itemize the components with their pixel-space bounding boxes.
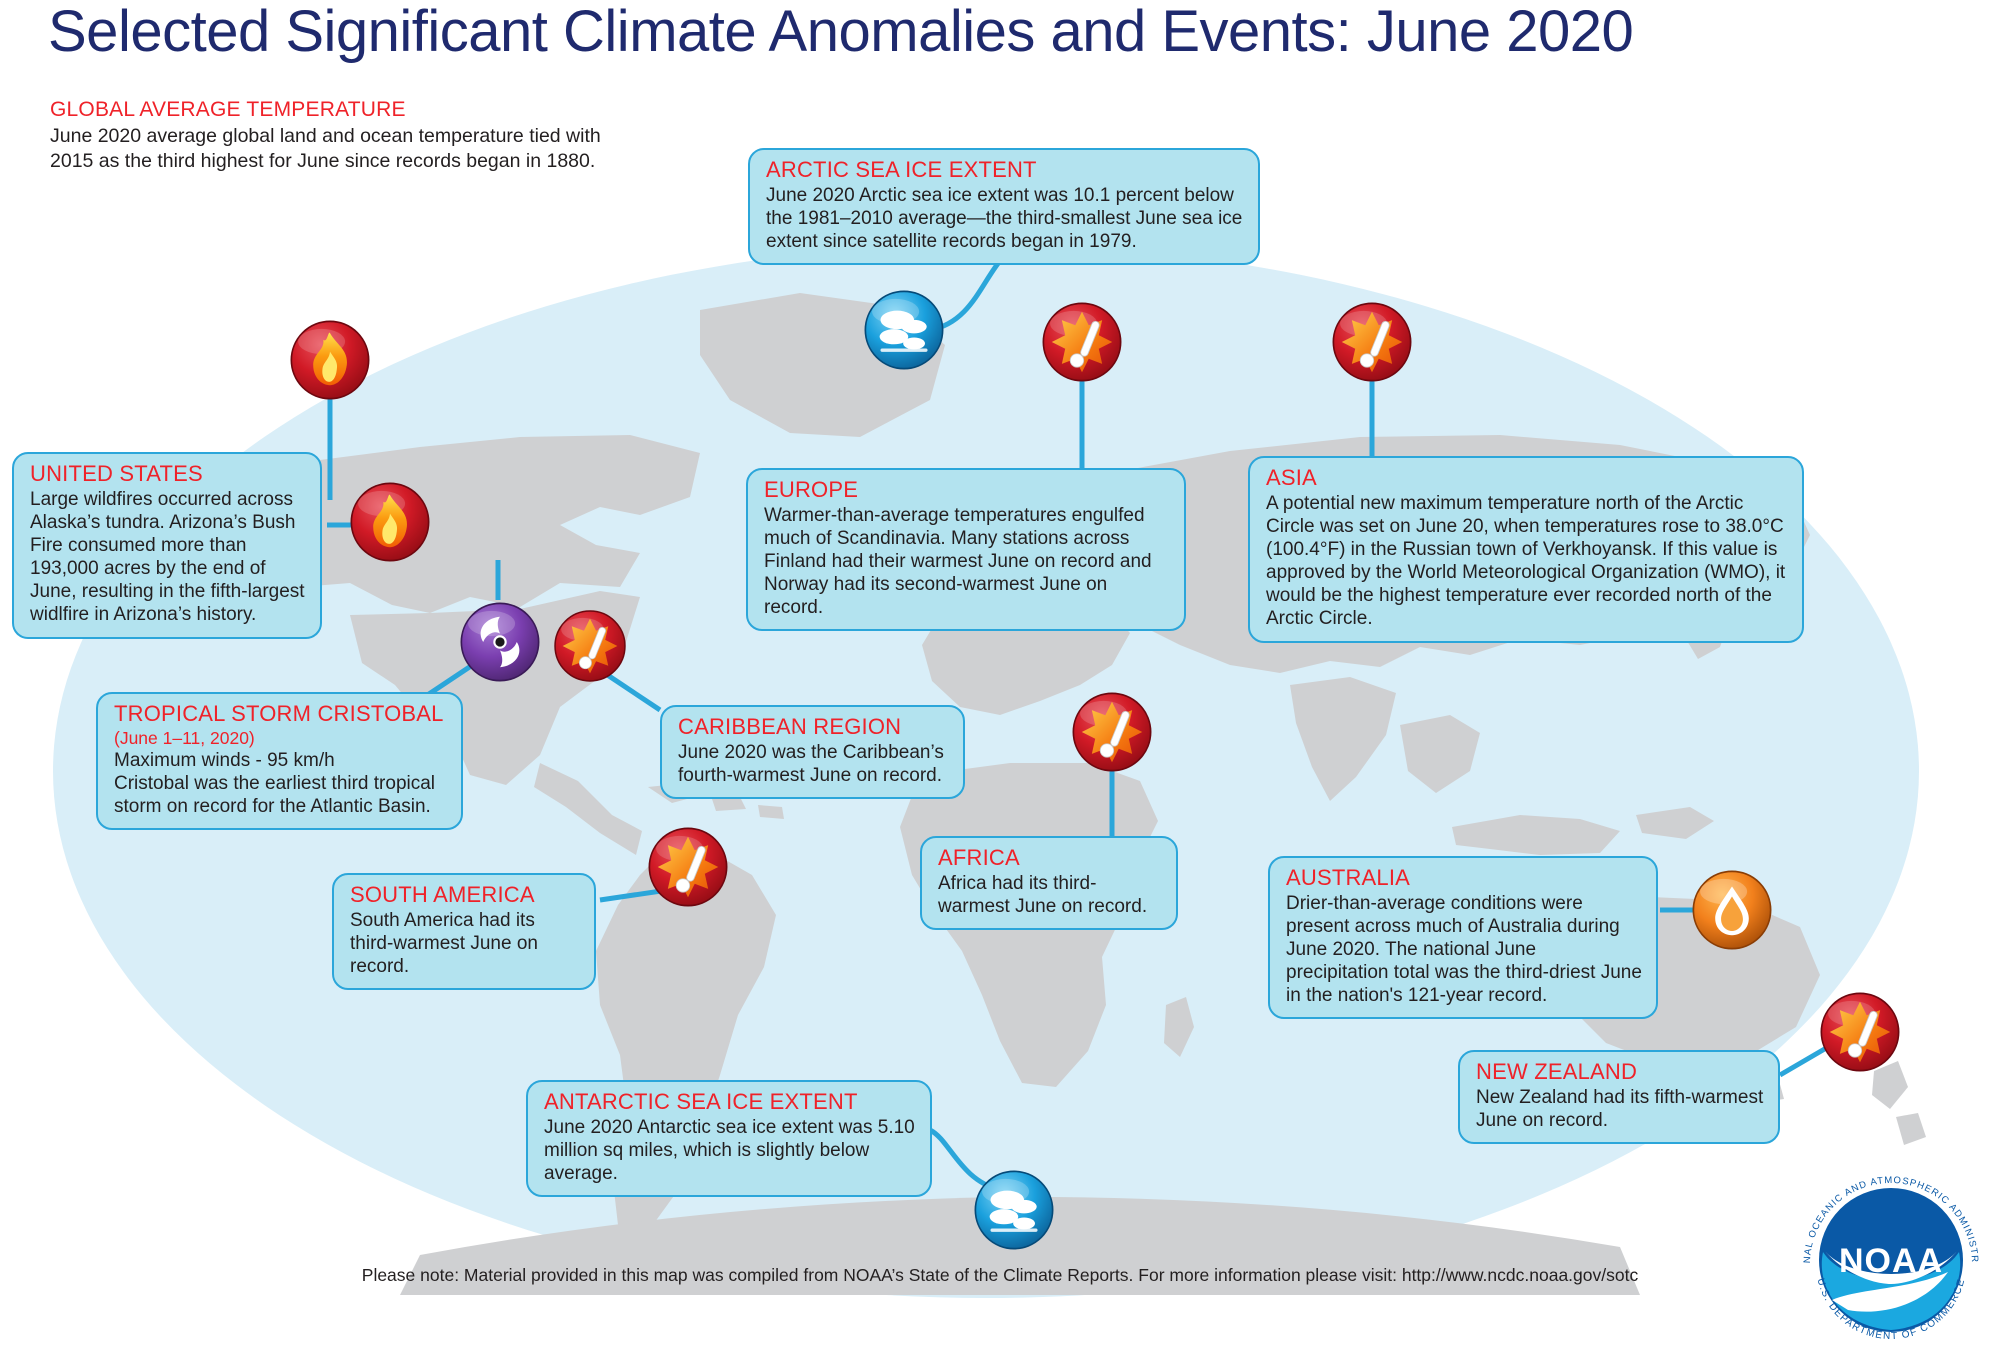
noaa-logo: NOAA NATIONAL OCEANIC AND ATMOSPHERIC AD… bbox=[1788, 1160, 1994, 1358]
callout-body: June 2020 Arctic sea ice extent was 10.1… bbox=[766, 184, 1244, 254]
callout-heading: SOUTH AMERICA bbox=[350, 883, 580, 908]
callout-body: June 2020 was the Caribbean’s fourth-war… bbox=[678, 741, 949, 787]
callout-heading: UNITED STATES bbox=[30, 462, 306, 487]
callout-south-america[interactable]: SOUTH AMERICA South America had its thir… bbox=[332, 873, 596, 990]
page-title: Selected Significant Climate Anomalies a… bbox=[48, 2, 1633, 63]
hurricane-eye bbox=[495, 637, 504, 646]
callout-body: Drier-than-average conditions were prese… bbox=[1286, 892, 1642, 1008]
marker-antarctic-ice[interactable] bbox=[972, 1168, 1056, 1252]
callout-body: June 2020 Antarctic sea ice extent was 5… bbox=[544, 1116, 916, 1186]
callout-europe[interactable]: EUROPE Warmer-than-average temperatures … bbox=[746, 468, 1186, 631]
global-average-temperature-body: June 2020 average global land and ocean … bbox=[50, 124, 610, 174]
callout-body: Warmer-than-average temperatures engulfe… bbox=[764, 504, 1170, 620]
global-average-temperature-block: GLOBAL AVERAGE TEMPERATURE June 2020 ave… bbox=[50, 98, 610, 174]
callout-body: Maximum winds - 95 km/h Cristobal was th… bbox=[114, 749, 447, 819]
marker-arizona-fire[interactable] bbox=[348, 480, 432, 564]
callout-body: A potential new maximum temperature nort… bbox=[1266, 492, 1788, 631]
callout-subheading: (June 1–11, 2020) bbox=[114, 728, 447, 748]
callout-united-states[interactable]: UNITED STATES Large wildfires occurred a… bbox=[12, 452, 322, 639]
callout-body: Africa had its third-warmest June on rec… bbox=[938, 872, 1162, 918]
callout-heading: CARIBBEAN REGION bbox=[678, 715, 949, 740]
marker-asia-temp[interactable] bbox=[1330, 300, 1414, 384]
noaa-logo-wordmark: NOAA bbox=[1839, 1242, 1943, 1280]
callout-heading: AUSTRALIA bbox=[1286, 866, 1642, 891]
callout-heading: ANTARCTIC SEA ICE EXTENT bbox=[544, 1090, 916, 1115]
marker-arctic-ice[interactable] bbox=[862, 288, 946, 372]
footer-note: Please note: Material provided in this m… bbox=[0, 1265, 2000, 1286]
callout-heading: EUROPE bbox=[764, 478, 1170, 503]
callout-heading: TROPICAL STORM CRISTOBAL bbox=[114, 702, 447, 727]
callout-australia[interactable]: AUSTRALIA Drier-than-average conditions … bbox=[1268, 856, 1658, 1019]
callout-caribbean-region[interactable]: CARIBBEAN REGION June 2020 was the Carib… bbox=[660, 705, 965, 799]
callout-body: Large wildfires occurred across Alaska’s… bbox=[30, 488, 306, 627]
callout-body: South America had its third-warmest June… bbox=[350, 909, 580, 979]
marker-cristobal-storm[interactable] bbox=[458, 600, 542, 684]
callout-asia[interactable]: ASIA A potential new maximum temperature… bbox=[1248, 456, 1804, 643]
marker-alaska-fire[interactable] bbox=[288, 318, 372, 402]
callout-tropical-storm-cristobal[interactable]: TROPICAL STORM CRISTOBAL (June 1–11, 202… bbox=[96, 692, 463, 830]
callout-antarctic-sea-ice[interactable]: ANTARCTIC SEA ICE EXTENT June 2020 Antar… bbox=[526, 1080, 932, 1197]
callout-body: New Zealand had its fifth-warmest June o… bbox=[1476, 1086, 1764, 1132]
callout-heading: ASIA bbox=[1266, 466, 1788, 491]
callout-heading: ARCTIC SEA ICE EXTENT bbox=[766, 158, 1244, 183]
marker-africa-temp[interactable] bbox=[1070, 690, 1154, 774]
callout-arctic-sea-ice[interactable]: ARCTIC SEA ICE EXTENT June 2020 Arctic s… bbox=[748, 148, 1260, 265]
marker-south-america-temp[interactable] bbox=[646, 825, 730, 909]
callout-heading: NEW ZEALAND bbox=[1476, 1060, 1764, 1085]
marker-new-zealand-temp[interactable] bbox=[1818, 990, 1902, 1074]
callout-heading: AFRICA bbox=[938, 846, 1162, 871]
marker-australia-dry[interactable] bbox=[1690, 868, 1774, 952]
callout-africa[interactable]: AFRICA Africa had its third-warmest June… bbox=[920, 836, 1178, 930]
marker-caribbean-temp[interactable] bbox=[552, 608, 628, 684]
infographic-page: Selected Significant Climate Anomalies a… bbox=[0, 0, 2000, 1358]
global-average-temperature-heading: GLOBAL AVERAGE TEMPERATURE bbox=[50, 98, 610, 122]
marker-europe-temp[interactable] bbox=[1040, 300, 1124, 384]
callout-new-zealand[interactable]: NEW ZEALAND New Zealand had its fifth-wa… bbox=[1458, 1050, 1780, 1144]
